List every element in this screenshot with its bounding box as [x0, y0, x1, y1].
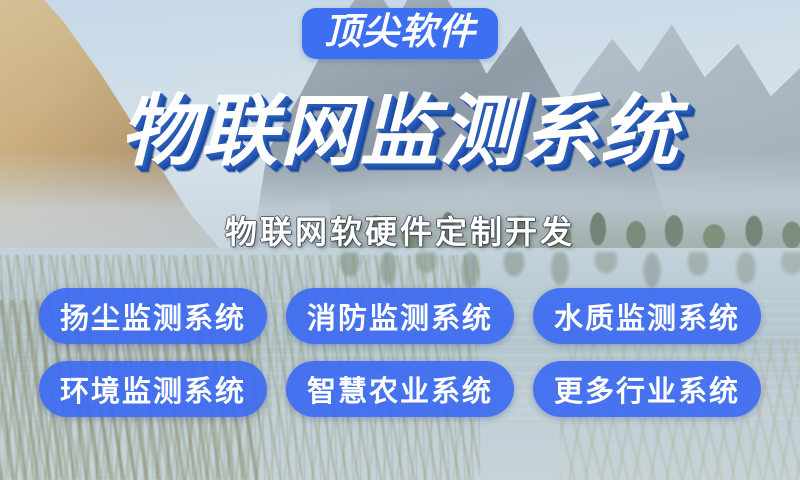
button-smart-agriculture[interactable]: 智慧农业系统: [286, 361, 514, 417]
banner-content: 顶尖软件 物联网监测系统 物联网软硬件定制开发 扬尘监测系统 消防监测系统 水质…: [0, 0, 800, 480]
system-button-grid: 扬尘监测系统 消防监测系统 水质监测系统 环境监测系统 智慧农业系统 更多行业系…: [0, 288, 800, 417]
banner-title: 物联网监测系统: [0, 93, 800, 171]
button-water-quality-monitoring[interactable]: 水质监测系统: [533, 288, 761, 344]
button-environment-monitoring[interactable]: 环境监测系统: [39, 361, 267, 417]
brand-badge: 顶尖软件: [302, 8, 498, 59]
button-more-industry-systems[interactable]: 更多行业系统: [533, 361, 761, 417]
button-row-2: 环境监测系统 智慧农业系统 更多行业系统: [39, 361, 761, 417]
button-row-1: 扬尘监测系统 消防监测系统 水质监测系统: [39, 288, 761, 344]
button-fire-monitoring[interactable]: 消防监测系统: [286, 288, 514, 344]
banner-subtitle: 物联网软硬件定制开发: [0, 207, 800, 253]
button-dust-monitoring[interactable]: 扬尘监测系统: [39, 288, 267, 344]
promo-banner: 顶尖软件 物联网监测系统 物联网软硬件定制开发 扬尘监测系统 消防监测系统 水质…: [0, 0, 800, 480]
